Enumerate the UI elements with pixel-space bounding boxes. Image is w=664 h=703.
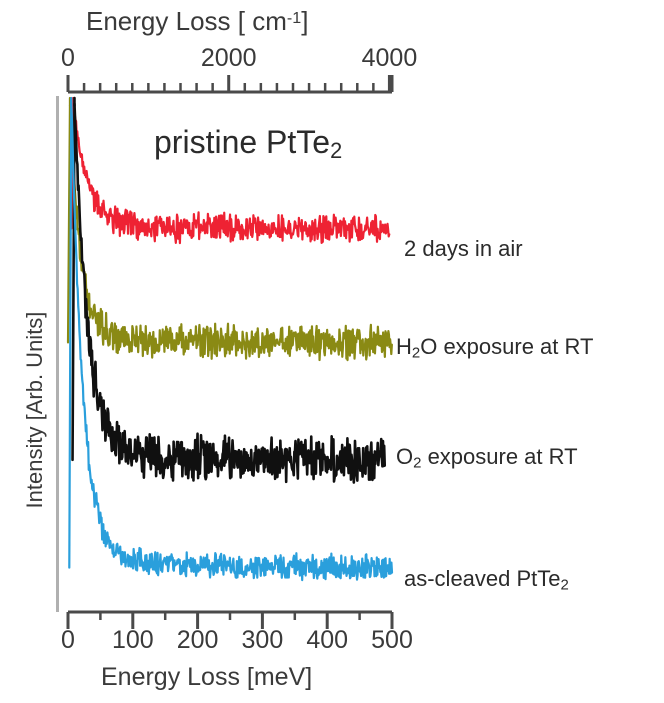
spectrum-curve-1: [71, 106, 389, 244]
curve-layer: [68, 98, 392, 580]
hreels-figure: Energy Loss [ cm-1] 0 2000 4000 Intensit…: [0, 0, 664, 703]
spectrum-curve-3: [73, 104, 385, 483]
plot-canvas: [0, 0, 664, 703]
